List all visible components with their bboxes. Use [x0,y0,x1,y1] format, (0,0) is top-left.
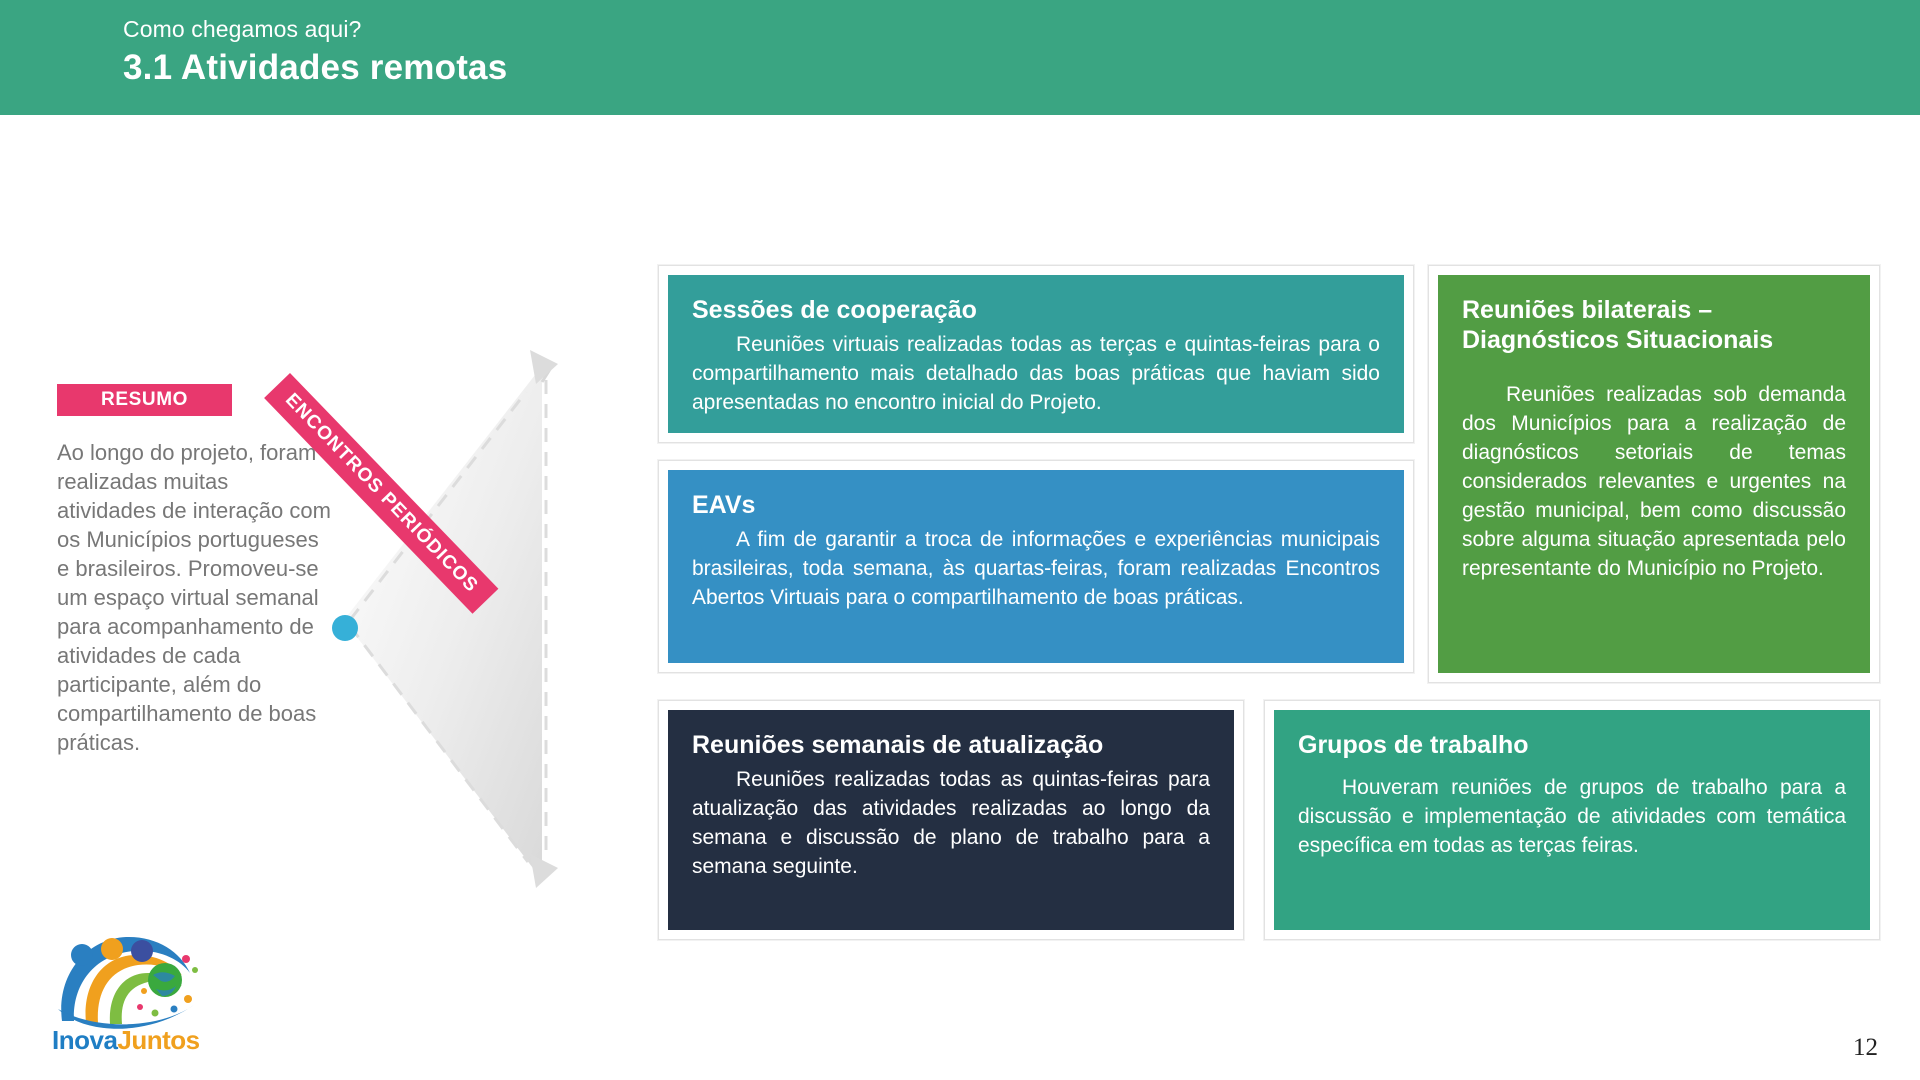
card-inner: Sessões de cooperação Reuniões virtuais … [668,275,1404,433]
page-title: 3.1 Atividades remotas [123,48,507,88]
card-title: Reuniões semanais de atualização [692,730,1210,760]
card-body: A fim de garantir a troca de informações… [692,526,1380,613]
logo-wordmark: InovaJuntos [52,1025,200,1056]
card-reunioes-semanais-de-atualizacao[interactable]: Reuniões semanais de atualização Reuniõe… [658,700,1244,940]
card-inner: EAVs A fim de garantir a troca de inform… [668,470,1404,663]
card-title: Reuniões bilaterais – Diagnósticos Situa… [1462,295,1846,355]
diagonal-arrow-graphic [330,320,630,910]
card-body: Reuniões realizadas todas as quintas-fei… [692,766,1210,882]
slide: Como chegamos aqui? 3.1 Atividades remot… [0,0,1920,1080]
card-sessoes-de-cooperacao[interactable]: Sessões de cooperação Reuniões virtuais … [658,265,1414,443]
card-grupos-de-trabalho[interactable]: Grupos de trabalho Houveram reuniões de … [1264,700,1880,940]
arrow-origin-dot [332,615,358,641]
card-inner: Reuniões bilaterais – Diagnósticos Situa… [1438,275,1870,673]
card-title: EAVs [692,490,1380,520]
logo-word-secondary: Juntos [117,1025,199,1055]
card-inner: Reuniões semanais de atualização Reuniõe… [668,710,1234,930]
logo-mark-icon [52,925,202,1030]
slide-header: Como chegamos aqui? 3.1 Atividades remot… [0,0,1920,115]
card-reunioes-bilaterais[interactable]: Reuniões bilaterais – Diagnósticos Situa… [1428,265,1880,683]
logo-word-primary: Inova [52,1025,117,1055]
card-inner: Grupos de trabalho Houveram reuniões de … [1274,710,1870,930]
arrow-shape-icon [330,320,630,910]
card-body: Reuniões virtuais realizadas todas as te… [692,331,1380,418]
resumo-badge: RESUMO [57,384,232,416]
card-title: Grupos de trabalho [1298,730,1846,760]
header-eyebrow: Como chegamos aqui? [123,16,361,43]
card-body: Reuniões realizadas sob demanda dos Muni… [1462,381,1846,584]
card-title: Sessões de cooperação [692,295,1380,325]
resumo-text: Ao longo do projeto, foram realizadas mu… [57,438,332,757]
card-eavs[interactable]: EAVs A fim de garantir a troca de inform… [658,460,1414,673]
page-number: 12 [1853,1034,1878,1062]
card-body: Houveram reuniões de grupos de trabalho … [1298,774,1846,861]
resumo-badge-label: RESUMO [101,389,188,411]
